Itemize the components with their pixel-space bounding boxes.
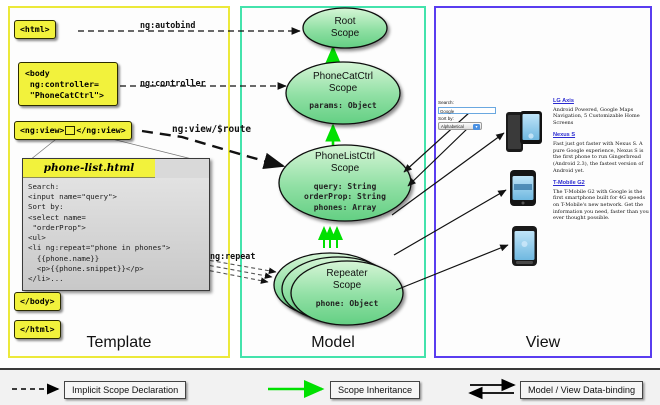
- list-item: T-Mobile G2 The T-Mobile G2 with Google …: [553, 180, 649, 222]
- legend-label-implicit-scope: Implicit Scope Declaration: [64, 381, 186, 399]
- phone-snippet: Fast just got faster with Nexus S. A pur…: [553, 141, 649, 174]
- phone-thumb-nexus-s: [510, 170, 536, 206]
- view-phone-list: LG Axis Android Powered, Google Maps Nav…: [553, 98, 649, 228]
- phone-snippet: Android Powered, Google Maps Navigation,…: [553, 107, 649, 127]
- legend: Implicit Scope Declaration Scope Inherit…: [0, 370, 660, 405]
- legend-label-scope-inheritance: Scope Inheritance: [330, 381, 420, 399]
- phone-name-link[interactable]: Nexus S: [553, 132, 649, 139]
- phone-name-link[interactable]: T-Mobile G2: [553, 180, 649, 187]
- legend-label-databinding: Model / View Data-binding: [520, 381, 643, 399]
- phone-snippet: The T-Mobile G2 with Google is the first…: [553, 189, 649, 222]
- phone-name-link[interactable]: LG Axis: [553, 98, 649, 105]
- list-item: Nexus S Fast just got faster with Nexus …: [553, 132, 649, 174]
- diagram-canvas: Template Model View: [0, 0, 660, 370]
- phone-thumb-lg-axis: [506, 111, 542, 152]
- diagram-page: Template Model View: [0, 0, 660, 405]
- phone-thumb-t-mobile-g2: [512, 226, 537, 266]
- list-item: LG Axis Android Powered, Google Maps Nav…: [553, 98, 649, 126]
